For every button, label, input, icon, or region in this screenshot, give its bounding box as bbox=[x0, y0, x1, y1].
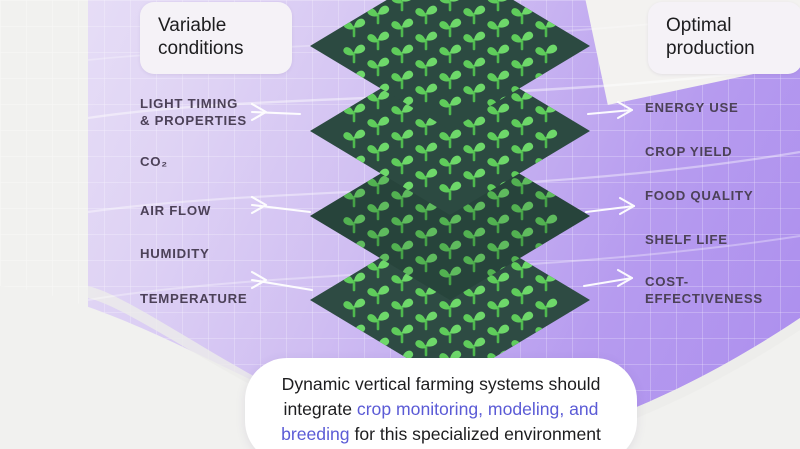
input-label-temperature: TEMPERATURE bbox=[140, 291, 247, 308]
heading-right-text: Optimal production bbox=[666, 15, 755, 59]
output-label-cost-effectiveness: COST- EFFECTIVENESS bbox=[645, 274, 763, 307]
input-label-co2: CO₂ bbox=[140, 154, 168, 171]
input-label-humidity: HUMIDITY bbox=[140, 246, 210, 263]
heading-variable-conditions: Variable conditions bbox=[140, 2, 292, 74]
input-label-light-timing: LIGHT TIMING & PROPERTIES bbox=[140, 96, 247, 129]
output-label-shelf-life: SHELF LIFE bbox=[645, 232, 728, 249]
output-label-crop-yield: CROP YIELD bbox=[645, 144, 732, 161]
output-label-food-quality: FOOD QUALITY bbox=[645, 188, 753, 205]
input-label-air-flow: AIR FLOW bbox=[140, 203, 211, 220]
infographic-canvas: Variable conditions Optimal production L… bbox=[0, 0, 800, 449]
output-label-energy-use: ENERGY USE bbox=[645, 100, 739, 117]
caption-text-after: for this specialized environment bbox=[350, 424, 601, 444]
heading-optimal-production: Optimal production bbox=[648, 2, 800, 74]
caption-card: Dynamic vertical farming systems should … bbox=[245, 358, 637, 449]
heading-left-text: Variable conditions bbox=[158, 15, 244, 59]
